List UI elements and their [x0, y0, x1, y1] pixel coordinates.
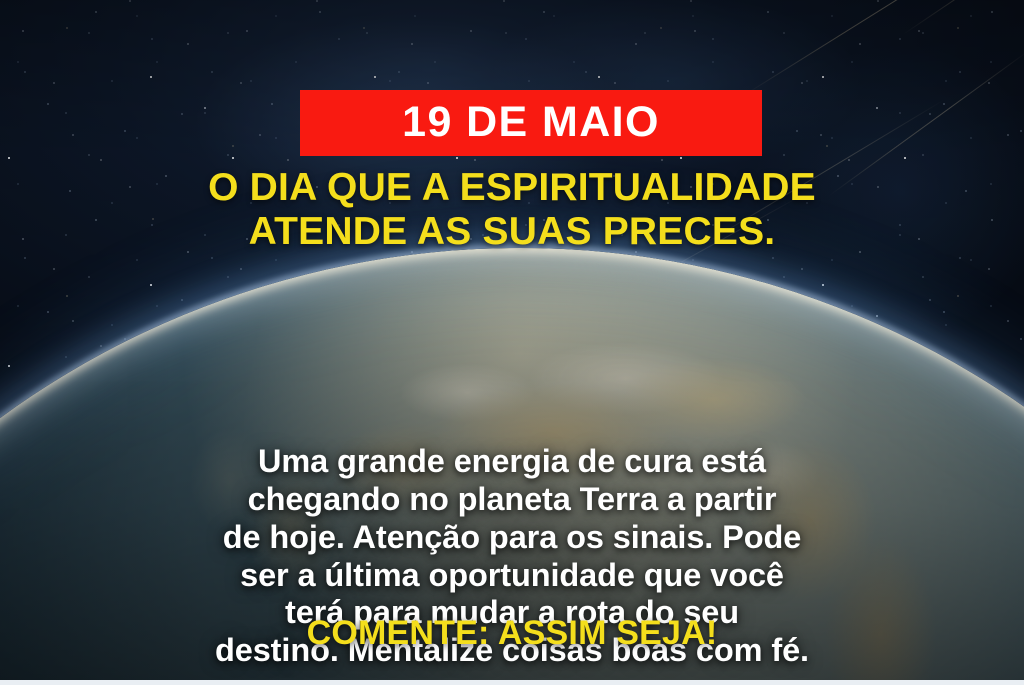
body-copy-line-1: Uma grande energia de cura está [52, 443, 972, 481]
headline-line-1: O DIA QUE A ESPIRITUALIDADE [50, 166, 974, 210]
body-copy-line-3: de hoje. Atenção para os sinais. Pode [52, 519, 972, 557]
headline-line-2: ATENDE AS SUAS PRECES. [50, 210, 974, 254]
date-banner: 19 DE MAIO [300, 90, 762, 156]
cta-text: COMENTE: ASSIM SEJA! [52, 616, 972, 650]
body-copy-line-4: ser a última oportunidade que você [52, 557, 972, 595]
date-banner-label: 19 DE MAIO [402, 101, 660, 144]
poster-content: 19 DE MAIO O DIA QUE A ESPIRITUALIDADE A… [0, 0, 1024, 685]
headline: O DIA QUE A ESPIRITUALIDADE ATENDE AS SU… [50, 166, 974, 253]
poster-image: 19 DE MAIO O DIA QUE A ESPIRITUALIDADE A… [0, 0, 1024, 685]
body-copy-line-2: chegando no planeta Terra a partir [52, 481, 972, 519]
bottom-edge-strip [0, 680, 1024, 685]
